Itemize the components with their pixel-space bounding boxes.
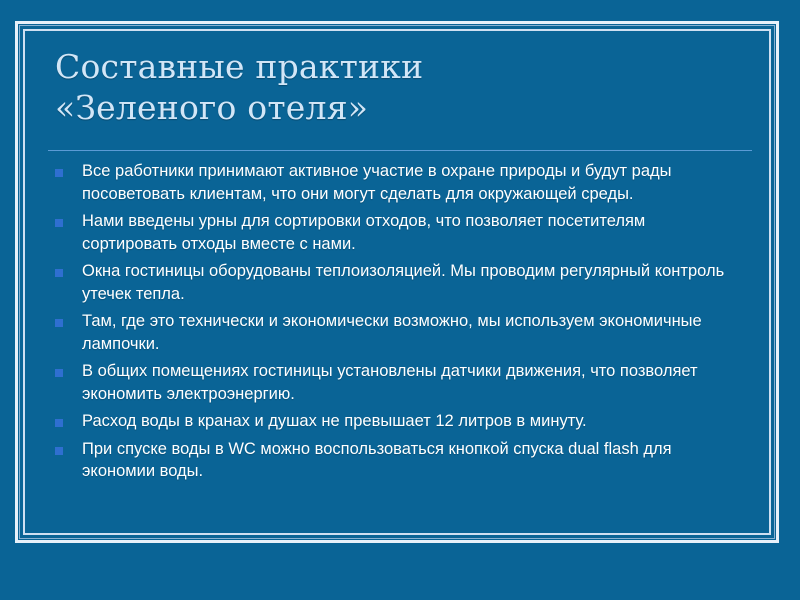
square-bullet-icon (55, 369, 63, 377)
list-item: Все работники принимают активное участие… (52, 160, 762, 205)
list-item-text: Нами введены урны для сортировки отходов… (82, 210, 732, 255)
square-bullet-icon (55, 447, 63, 455)
list-item: Там, где это технически и экономически в… (52, 310, 762, 355)
list-item: Расход воды в кранах и душах не превышае… (52, 410, 762, 433)
slide-title-line-1: Составные практики (55, 46, 755, 87)
list-item-text: В общих помещениях гостиницы установлены… (82, 360, 732, 405)
list-item-text: Там, где это технически и экономически в… (82, 310, 732, 355)
title-divider-rule (48, 150, 752, 151)
slide-title-line-2: «Зеленого отеля» (55, 87, 755, 128)
square-bullet-icon (55, 319, 63, 327)
bullet-list: Все работники принимают активное участие… (52, 160, 762, 488)
list-item: В общих помещениях гостиницы установлены… (52, 360, 762, 405)
list-item-text: Все работники принимают активное участие… (82, 160, 732, 205)
square-bullet-icon (55, 219, 63, 227)
slide-canvas: Составные практики «Зеленого отеля» Все … (0, 0, 800, 600)
list-item: Нами введены урны для сортировки отходов… (52, 210, 762, 255)
slide-title: Составные практики «Зеленого отеля» (55, 46, 755, 128)
square-bullet-icon (55, 269, 63, 277)
square-bullet-icon (55, 419, 63, 427)
list-item: При спуске воды в WC можно воспользовать… (52, 438, 762, 483)
list-item-text: При спуске воды в WC можно воспользовать… (82, 438, 732, 483)
square-bullet-icon (55, 169, 63, 177)
list-item: Окна гостиницы оборудованы теплоизоляцие… (52, 260, 762, 305)
list-item-text: Окна гостиницы оборудованы теплоизоляцие… (82, 260, 732, 305)
list-item-text: Расход воды в кранах и душах не превышае… (82, 410, 732, 433)
